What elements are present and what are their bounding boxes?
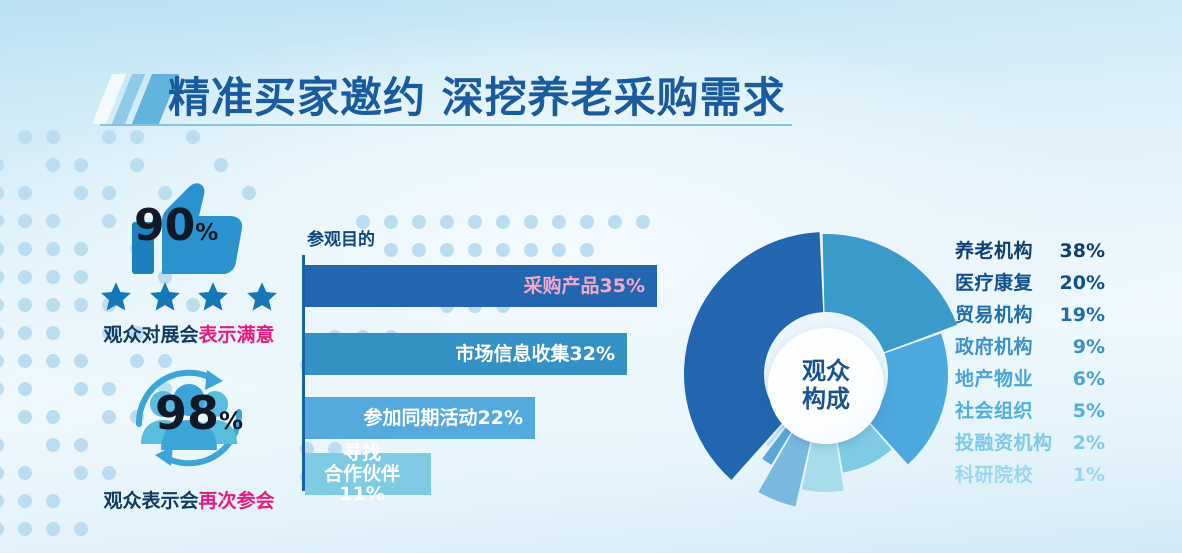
donut-legend-value: 5% — [1073, 400, 1105, 422]
bar-chart-bar: 寻找合作伙伴11% — [305, 453, 431, 495]
donut-center-label: 观众 构成 — [768, 328, 884, 444]
revisit-caption: 观众表示会再次参会 — [86, 486, 292, 513]
donut-center-line1: 观众 — [802, 358, 850, 386]
donut-legend-label: 贸易机构 — [955, 300, 1033, 327]
donut-legend-value: 9% — [1073, 336, 1105, 358]
donut-legend-value: 2% — [1073, 432, 1105, 454]
star-icon — [98, 280, 134, 314]
donut-legend-value: 1% — [1073, 464, 1105, 486]
donut-legend-value: 19% — [1060, 304, 1105, 326]
donut-legend-label: 医疗康复 — [955, 268, 1033, 295]
page-header: 精准买家邀约 深挖养老采购需求 — [100, 62, 792, 140]
bar-chart-bar-label: 参加同期活动22% — [364, 408, 523, 429]
donut-legend-label: 政府机构 — [955, 332, 1033, 359]
donut-legend-label: 地产物业 — [955, 364, 1033, 391]
donut-legend-row: 贸易机构19% — [955, 300, 1105, 332]
star-icon — [195, 280, 231, 314]
star-icon — [244, 280, 280, 314]
satisfaction-caption-highlight: 表示满意 — [199, 324, 275, 346]
audience-composition-donut-chart: 观众 构成 — [676, 228, 976, 520]
star-rating — [98, 280, 280, 314]
satisfaction-caption: 观众对展会表示满意 — [86, 320, 292, 347]
revisit-stat: 98% — [111, 362, 267, 474]
revisit-caption-dark: 观众表示会 — [103, 490, 198, 512]
star-icon — [147, 280, 183, 314]
slash-decoration-icon — [102, 74, 174, 124]
donut-legend: 养老机构38%医疗康复20%贸易机构19%政府机构9%地产物业6%社会组织5%投… — [955, 236, 1105, 492]
bar-chart-bar: 市场信息收集32% — [305, 333, 627, 375]
donut-legend-value: 6% — [1073, 368, 1105, 390]
bar-chart-bar: 采购产品35% — [305, 265, 657, 307]
donut-legend-row: 投融资机构2% — [955, 428, 1105, 460]
bar-chart-bar-label: 市场信息收集32% — [456, 344, 615, 365]
bar-chart-title: 参观目的 — [307, 225, 375, 250]
donut-legend-label: 养老机构 — [955, 236, 1033, 263]
visit-purpose-bar-chart: 参观目的 采购产品35%市场信息收集32%参加同期活动22%寻找合作伙伴11% — [302, 225, 682, 500]
donut-legend-label: 投融资机构 — [955, 428, 1053, 455]
revisit-caption-highlight: 再次参会 — [199, 490, 275, 512]
donut-legend-row: 科研院校1% — [955, 460, 1105, 492]
donut-legend-value: 38% — [1060, 240, 1105, 262]
donut-legend-row: 社会组织5% — [955, 396, 1105, 428]
satisfaction-stat: 90% — [104, 176, 274, 286]
donut-legend-row: 地产物业6% — [955, 364, 1105, 396]
left-stats-panel: 90% 观众对展会表示满意 — [86, 176, 292, 516]
donut-center-line2: 构成 — [802, 386, 850, 414]
donut-legend-label: 科研院校 — [955, 460, 1033, 487]
donut-legend-label: 社会组织 — [955, 396, 1033, 423]
bar-chart-bar-label: 寻找合作伙伴11% — [305, 443, 419, 505]
revisit-value: 98% — [155, 390, 243, 436]
donut-legend-row: 政府机构9% — [955, 332, 1105, 364]
donut-legend-row: 医疗康复20% — [955, 268, 1105, 300]
donut-legend-row: 养老机构38% — [955, 236, 1105, 268]
page-title: 精准买家邀约 深挖养老采购需求 — [168, 64, 786, 125]
satisfaction-value: 90% — [134, 204, 218, 248]
donut-legend-value: 20% — [1060, 272, 1105, 294]
bar-chart-bar: 参加同期活动22% — [305, 397, 535, 439]
title-underline-divider — [100, 124, 792, 126]
satisfaction-caption-dark: 观众对展会 — [103, 324, 198, 346]
infographic-canvas: 精准买家邀约 深挖养老采购需求 90% 观众对展会表示满意 — [0, 0, 1182, 553]
bar-chart-bar-label: 采购产品35% — [524, 276, 645, 297]
